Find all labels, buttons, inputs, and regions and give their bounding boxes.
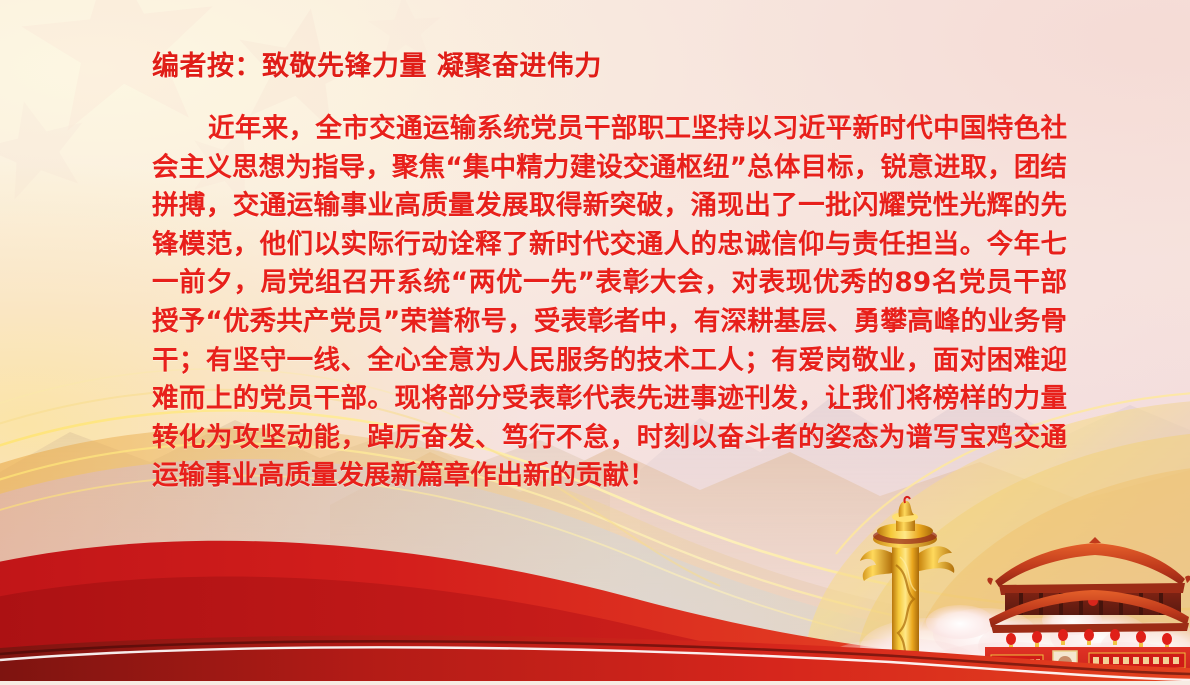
article-content: 编者按：致敬先锋力量 凝聚奋进伟力 近年来，全市交通运输系统党员干部职工坚持以习… bbox=[0, 0, 1190, 685]
poster-canvas: 编者按：致敬先锋力量 凝聚奋进伟力 近年来，全市交通运输系统党员干部职工坚持以习… bbox=[0, 0, 1190, 685]
editor-note-body: 近年来，全市交通运输系统党员干部职工坚持以习近平新时代中国特色社会主义思想为指导… bbox=[152, 110, 1067, 496]
editor-note-headline: 编者按：致敬先锋力量 凝聚奋进伟力 bbox=[152, 44, 602, 83]
